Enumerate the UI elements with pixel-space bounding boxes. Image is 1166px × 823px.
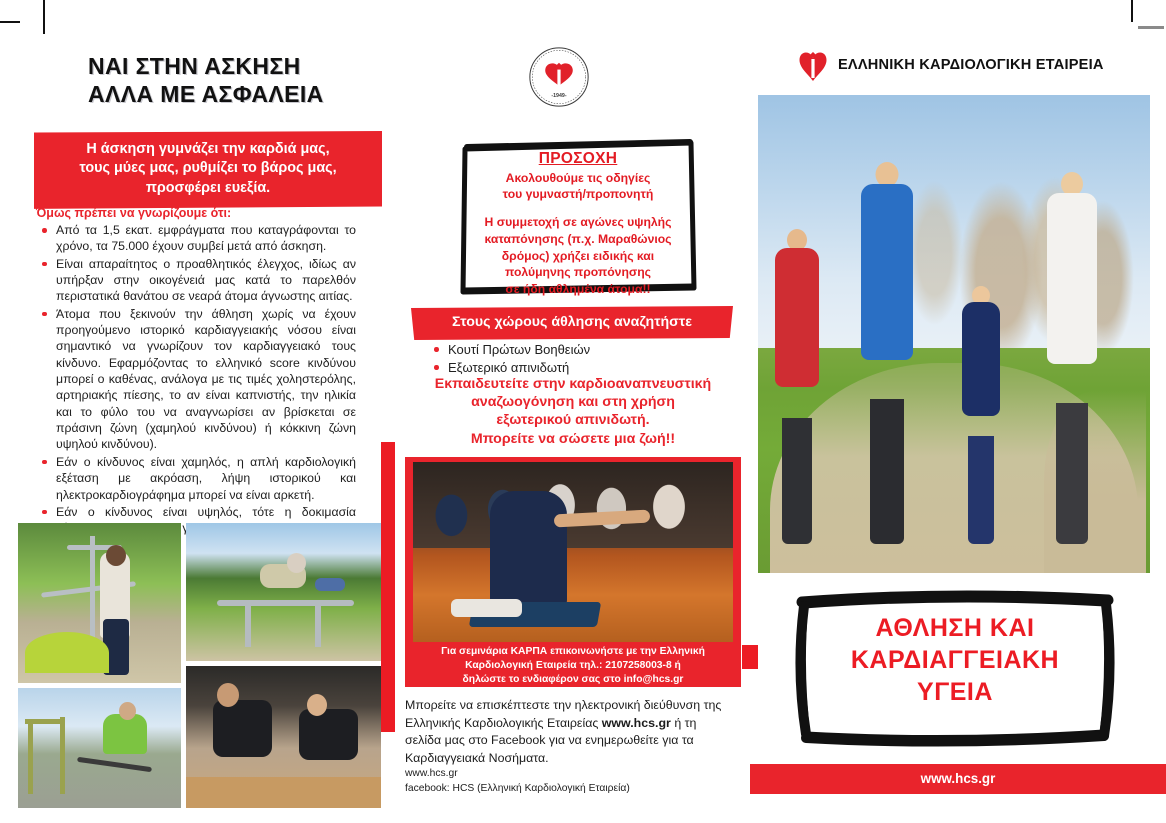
list-item: Εξωτερικό απινιδωτή (428, 359, 728, 376)
left-red-callout: Η άσκηση γυμνάζει την καρδιά μας, τους μ… (34, 131, 382, 209)
list-item: Από τα 1,5 εκατ. εμφράγματα που καταγράφ… (36, 222, 356, 255)
warning-line-2: του γυμναστή/προπονητή (459, 186, 697, 202)
left-panel: ΝΑΙ ΣΤΗΝ ΑΣΚΗΣΗ ΑΛΛΑ ΜΕ ΑΣΦΑΛΕΙΑ Η άσκησ… (0, 0, 395, 823)
right-footer-bar: www.hcs.gr (750, 764, 1166, 794)
right-footer-url[interactable]: www.hcs.gr (921, 771, 996, 786)
seminar-info: Για σεμινάρια ΚΑΡΠΑ επικοινωνήστε με την… (405, 645, 741, 688)
title-frame: ΑΘΛΗΣΗ ΚΑΙ ΚΑΡΔΙΑΓΓΕΙΑΚΗ ΥΓΕΙΑ (790, 588, 1120, 748)
right-panel-accent-bar (742, 645, 758, 669)
left-panel-divider (381, 442, 395, 732)
hcs-seal-logo: -1949- (528, 46, 590, 108)
warning-line-7: σε ήδη αθλημένα άτομα!! (459, 281, 697, 298)
cta-line-1: Εκπαιδευτείτε στην καρδιοαναπνευστική (403, 375, 743, 393)
list-item: Εάν ο κίνδυνος είναι χαμηλός, η απλή καρ… (36, 454, 356, 503)
right-panel: ΕΛΛΗΝΙΚΗ ΚΑΡΔΙΟΛΟΓΙΚΗ ΕΤΑΙΡΕΙΑ (750, 0, 1166, 823)
seal-year: -1949- (551, 93, 566, 99)
photo-pushups-man-and-boy (186, 666, 381, 808)
left-headline-line1: ΝΑΙ ΣΤΗΝ ΑΣΚΗΣΗ (88, 52, 388, 80)
footer-website-link[interactable]: www.hcs.gr (602, 716, 671, 730)
photo-cpr-training (413, 462, 733, 642)
seminar-line-3: δηλώστε το ενδιαφέρον σας στο info@hcs.g… (405, 673, 741, 687)
cta-text: Εκπαιδευτείτε στην καρδιοαναπνευστική αν… (403, 375, 743, 448)
list-item: Άτομα που ξεκινούν την άθληση χωρίς να έ… (36, 306, 356, 453)
list-item: Κουτί Πρώτων Βοηθειών (428, 341, 728, 358)
warning-line-1: Ακολουθούμε τις οδηγίες (459, 170, 697, 186)
cpr-photo-frame: Για σεμινάρια ΚΑΡΠΑ επικοινωνήστε με την… (405, 457, 741, 687)
warning-box: ΠΡΟΣΟΧΗ Ακολουθούμε τις οδηγίες του γυμν… (459, 138, 697, 296)
center-panel: -1949- ΠΡΟΣΟΧΗ Ακολουθούμε τις οδηγίες τ… (395, 0, 750, 823)
warning-line-5: δρόμος) χρήζει ειδικής και (459, 248, 697, 265)
footer-url[interactable]: www.hcs.gr (405, 767, 735, 782)
brochure-title-line3: ΥΓΕΙΑ (790, 676, 1120, 708)
photo-outdoor-gym-woman (18, 523, 181, 683)
cta-line-4: Μπορείτε να σώσετε μια ζωή!! (403, 430, 743, 448)
warning-line-4: καταπόνησης (π.χ. Μαραθώνιος (459, 231, 697, 248)
left-red-callout-line3: προσφέρει ευεξία. (40, 179, 376, 198)
warning-line-3: Η συμμετοχή σε αγώνες υψηλής (459, 214, 697, 231)
left-intro-text: Όμως πρέπει να γνωρίζουμε ότι: (36, 206, 231, 220)
warning-title: ΠΡΟΣΟΧΗ (459, 150, 697, 168)
footer-facebook[interactable]: facebook: HCS (Ελληνική Καρδιολογική Ετα… (405, 782, 735, 797)
left-red-callout-line1: Η άσκηση γυμνάζει την καρδιά μας, (40, 140, 376, 159)
footer-paragraph: Μπορείτε να επισκέπτεστε την ηλεκτρονική… (405, 697, 735, 767)
left-red-callout-line2: τους μύες μας, ρυθμίζει το βάρος μας, (40, 159, 376, 178)
photo-outdoor-gym-senior-man (186, 523, 381, 661)
seminar-line-2: Καρδιολογική Εταιρεία τηλ.: 2107258003-8… (405, 659, 741, 673)
cta-line-3: εξωτερικού απινιδωτή. (403, 411, 743, 429)
brochure-title-line2: ΚΑΡΔΙΑΓΓΕΙΑΚΗ (790, 644, 1120, 676)
left-bullet-list: Από τα 1,5 εκατ. εμφράγματα που καταγράφ… (36, 222, 356, 554)
warning-line-6: πολύμηνης προπόνησης (459, 264, 697, 281)
seminar-line-1: Για σεμινάρια ΚΑΡΠΑ επικοινωνήστε με την… (405, 645, 741, 659)
brochure-title-line1: ΑΘΛΗΣΗ ΚΑΙ (790, 612, 1120, 644)
left-headline-line2: ΑΛΛΑ ΜΕ ΑΣΦΑΛΕΙΑ (88, 80, 388, 108)
photo-family-jogging (758, 95, 1150, 573)
list-item: Είναι απαραίτητος ο προαθλητικός έλεγχος… (36, 256, 356, 305)
heart-torch-icon (798, 48, 828, 84)
left-headline: ΝΑΙ ΣΤΗΝ ΑΣΚΗΣΗ ΑΛΛΑ ΜΕ ΑΣΦΑΛΕΙΑ (88, 52, 388, 108)
brand-header: ΕΛΛΗΝΙΚΗ ΚΑΡΔΙΟΛΟΓΙΚΗ ΕΤΑΙΡΕΙΑ (758, 48, 1158, 88)
venues-bullet-list: Κουτί Πρώτων Βοηθειών Εξωτερικό απινιδωτ… (428, 341, 728, 378)
photo-battle-ropes-woman (18, 688, 181, 808)
brand-title: ΕΛΛΗΝΙΚΗ ΚΑΡΔΙΟΛΟΓΙΚΗ ΕΤΑΙΡΕΙΑ (838, 57, 1104, 73)
cta-line-2: αναζωογόνηση και στη χρήση (403, 393, 743, 411)
footer-small-lines: www.hcs.gr facebook: HCS (Ελληνική Καρδι… (405, 767, 735, 797)
venues-banner: Στους χώρους άθλησης αναζητήστε (411, 306, 733, 340)
